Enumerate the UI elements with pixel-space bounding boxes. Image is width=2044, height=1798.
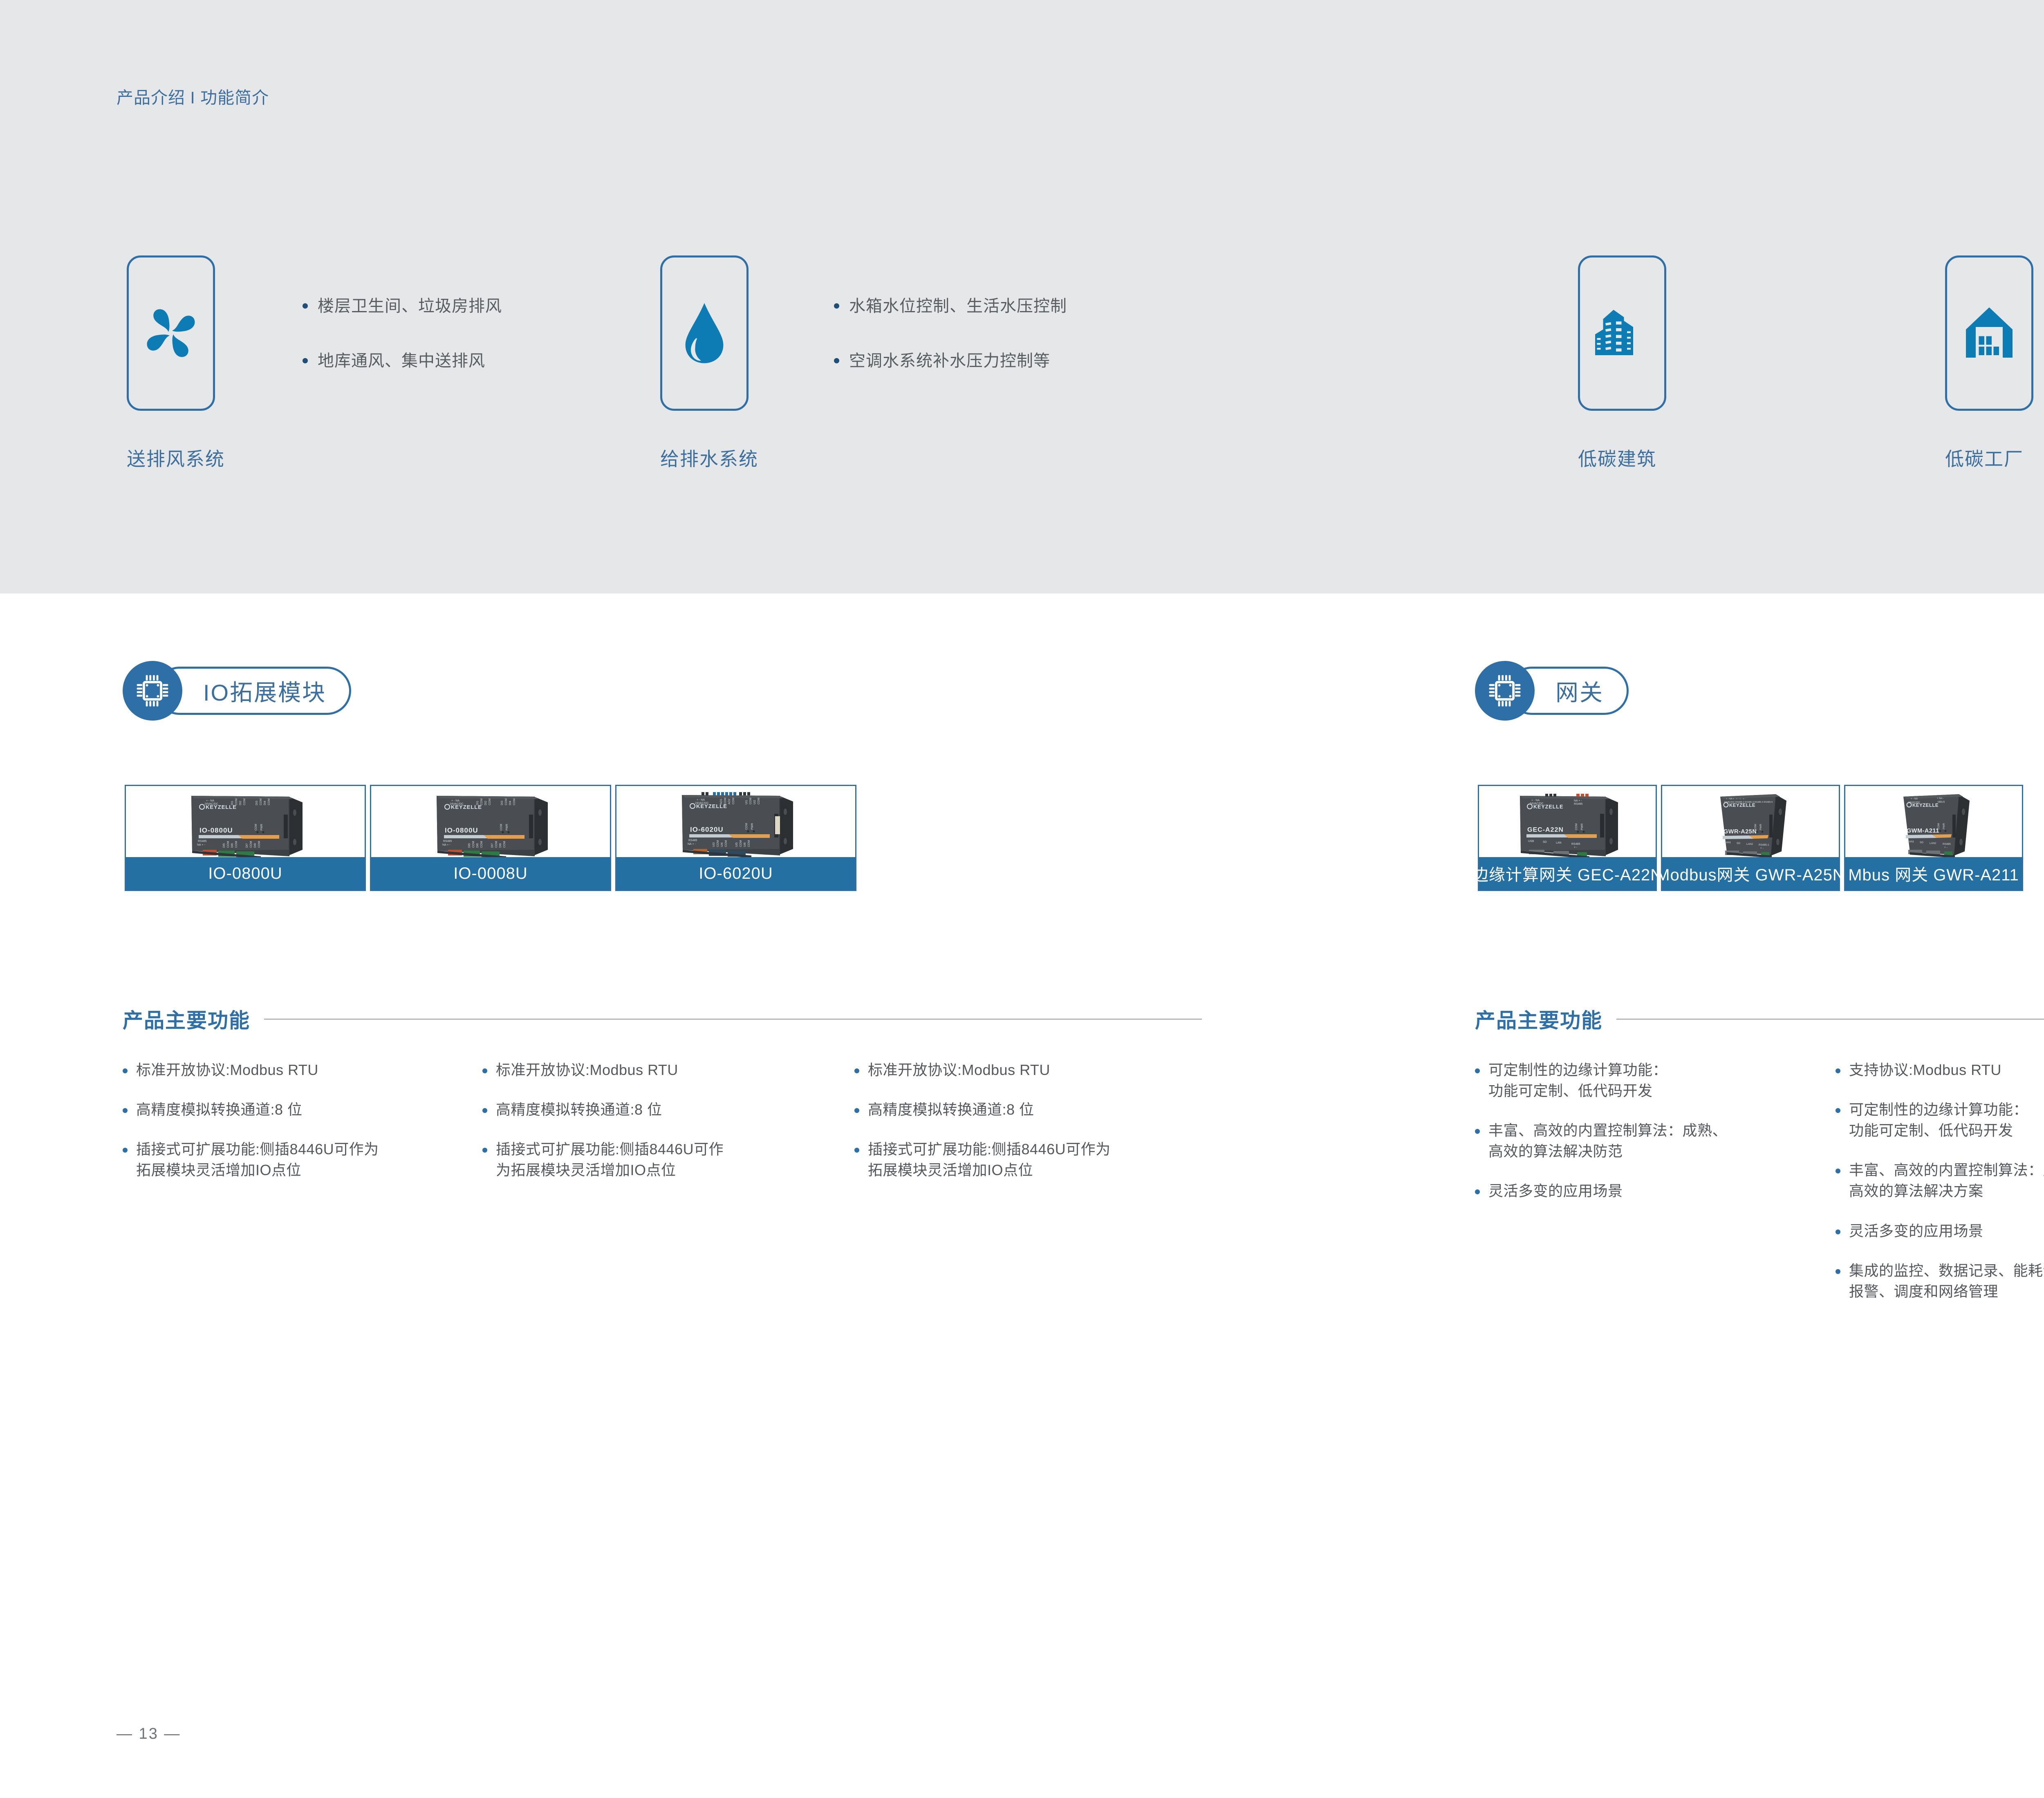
svg-text:RS485: RS485 xyxy=(1571,843,1580,846)
feature-line: 可定制性的边缘计算功能： xyxy=(1849,1101,2028,1118)
svg-text:COM: COM xyxy=(724,798,727,805)
svg-text:COM: COM xyxy=(258,841,261,848)
svg-text:GEC-A22N: GEC-A22N xyxy=(1527,826,1564,833)
feature-item: 集成的监控、数据记录、能耗计量、 报警、调度和网络管理 xyxy=(1836,1260,2044,1302)
feature-item: 插接式可扩展功能:侧插8446U可作 为拓展模块灵活增加IO点位 xyxy=(482,1139,830,1180)
svg-text:DI8: DI8 xyxy=(254,843,257,848)
svg-text:COM: COM xyxy=(717,840,719,847)
bullet-dot xyxy=(854,1148,859,1153)
office-buildings-icon-frame xyxy=(1578,255,1666,411)
feature-item: 高精度模拟转换通道:8 位 xyxy=(123,1099,470,1120)
feature-text: 灵活多变的应用场景 xyxy=(1849,1220,1983,1241)
bullet-dot xyxy=(1836,1269,1840,1274)
bullet-dot xyxy=(482,1148,487,1153)
svg-text:+ -: + - xyxy=(1574,846,1578,849)
application-card-water: 给排水系统 xyxy=(660,255,758,471)
svg-text:DI1: DI1 xyxy=(231,801,234,805)
product-card[interactable]: KEYZELLE GEC-A22N COM PWR + - NA 24VAC/D… xyxy=(1478,785,1657,891)
feature-text: 可定制性的边缘计算功能： 功能可定制、低代码开发 xyxy=(1849,1099,2028,1141)
svg-text:PWR: PWR xyxy=(1581,824,1584,830)
feature-item: 标准开放协议:Modbus RTU xyxy=(482,1059,830,1080)
bullet-text: 空调水系统补水压力控制等 xyxy=(849,347,1050,371)
svg-text:COM: COM xyxy=(489,799,491,806)
svg-text:DI3: DI3 xyxy=(501,801,504,805)
feature-item: 插接式可扩展功能:侧插8446U可作为 拓展模块灵活增加IO点位 xyxy=(123,1139,470,1180)
svg-text:COM: COM xyxy=(500,824,503,831)
feature-line: 插接式可扩展功能:侧插8446U可作 xyxy=(496,1141,724,1158)
svg-text:NA + -: NA + - xyxy=(688,843,696,846)
bullet-item: 地库通风、集中送排风 xyxy=(303,347,502,371)
svg-text:+ - NA: + - NA xyxy=(1531,799,1540,802)
feature-line: 丰富、高效的内置控制算法：成熟、 xyxy=(1849,1162,2044,1178)
feature-text: 标准开放协议:Modbus RTU xyxy=(868,1059,1050,1080)
feature-item: 丰富、高效的内置控制算法：成熟、 高效的算法解决防范 xyxy=(1475,1120,1777,1162)
feature-line: 为拓展模块灵活增加IO点位 xyxy=(496,1160,724,1180)
application-bullets-ventilation: 楼层卫生间、垃圾房排风 地库通风、集中送排风 xyxy=(303,293,502,402)
feature-line: 支持协议:Modbus RTU xyxy=(1849,1061,2001,1078)
svg-text:SD: SD xyxy=(1920,841,1923,844)
svg-text:COM: COM xyxy=(725,840,728,847)
svg-text:+ - NA: + - NA xyxy=(206,799,214,802)
svg-text:24VAC/DC: 24VAC/DC xyxy=(204,803,218,806)
svg-text:+ - NA: + - NA xyxy=(451,799,459,802)
product-image: KEYZELLE IO-0800U COM PWR + - NA 24VAC/D… xyxy=(371,786,610,857)
svg-text:+ - NA + - + - + - + -: + - NA + - + - + - + - xyxy=(1726,798,1746,800)
svg-text:DI2: DI2 xyxy=(239,801,242,805)
feature-text: 插接式可扩展功能:侧插8446U可作为 拓展模块灵活增加IO点位 xyxy=(868,1139,1111,1180)
svg-text:NA + -: NA + - xyxy=(197,844,205,846)
office-buildings-icon xyxy=(1591,302,1653,364)
product-caption: 边缘计算网关 GEC-A22N xyxy=(1479,857,1656,890)
feature-item: 标准开放协议:Modbus RTU xyxy=(854,1059,1202,1080)
svg-text:COM: COM xyxy=(255,824,258,831)
svg-text:DI3: DI3 xyxy=(255,801,258,805)
application-label: 给排水系统 xyxy=(660,444,758,471)
application-card-ventilation: 送排风系统 xyxy=(127,255,225,471)
section-header-io: IO拓展模块 xyxy=(123,661,351,721)
features-title: 产品主要功能 xyxy=(123,1004,250,1034)
bullet-dot xyxy=(482,1108,487,1113)
feature-line: 拓展模块灵活增加IO点位 xyxy=(868,1160,1111,1180)
factory-icon-frame xyxy=(1945,255,2033,411)
feature-item: 标准开放协议:Modbus RTU xyxy=(123,1059,470,1080)
section-title-pill-io: IO拓展模块 xyxy=(155,667,351,715)
bullet-dot xyxy=(1836,1169,1840,1173)
device-photo-io-6020u: KEYZELLE IO-6020U COM PWR + - NA 24VAC/D… xyxy=(616,786,855,857)
product-card[interactable]: KEYZELLE GWR-A25N COM PWR + - NA + - + -… xyxy=(1661,785,1840,891)
svg-text:24VAC/DC: 24VAC/DC xyxy=(695,802,709,805)
svg-text:GWM-A211: GWM-A211 xyxy=(1907,828,1939,834)
feature-text: 集成的监控、数据记录、能耗计量、 报警、调度和网络管理 xyxy=(1849,1260,2044,1302)
application-card-low-carbon-building: 低碳建筑 xyxy=(1578,255,1666,471)
svg-text:COM: COM xyxy=(480,841,483,848)
application-label: 送排风系统 xyxy=(127,444,225,471)
product-image: KEYZELLE GWR-A25N COM PWR + - NA + - + -… xyxy=(1662,786,1839,857)
feature-line: 标准开放协议:Modbus RTU xyxy=(136,1061,318,1078)
feature-text: 插接式可扩展功能:侧插8446U可作为 拓展模块灵活增加IO点位 xyxy=(136,1139,379,1180)
svg-text:COM: COM xyxy=(268,799,271,806)
feature-text: 插接式可扩展功能:侧插8446U可作 为拓展模块灵活增加IO点位 xyxy=(496,1139,724,1180)
bullet-dot xyxy=(1475,1129,1480,1134)
svg-text:DI6: DI6 xyxy=(476,843,479,848)
device-photo-io-0800u: KEYZELLE IO-0800U COM PWR + - NA 24 xyxy=(126,786,365,857)
water-drop-icon xyxy=(677,300,731,366)
svg-text:COM: COM xyxy=(745,823,748,830)
features-title: 产品主要功能 xyxy=(1475,1004,1602,1034)
bullet-text: 地库通风、集中送排风 xyxy=(318,347,485,371)
feature-item: 可定制性的边缘计算功能： 功能可定制、低代码开发 xyxy=(1836,1099,2044,1141)
feature-line: 高效的算法解决方案 xyxy=(1849,1180,2044,1201)
bullet-text: 水箱水位控制、生活水压控制 xyxy=(849,293,1067,316)
svg-text:DI6: DI6 xyxy=(231,843,234,848)
svg-text:AO2: AO2 xyxy=(728,799,731,804)
svg-text:COM: COM xyxy=(758,798,760,805)
page-number-left: — 13 — xyxy=(117,1725,181,1743)
section-title: 网关 xyxy=(1555,674,1604,708)
feature-text: 高精度模拟转换通道:8 位 xyxy=(496,1099,662,1120)
svg-text:RS485: RS485 xyxy=(1943,843,1951,846)
svg-text:COM: COM xyxy=(495,841,498,848)
svg-text:NA + -: NA + - xyxy=(442,844,450,846)
feature-line: 高效的算法解决防范 xyxy=(1488,1141,1727,1162)
svg-text:RS485: RS485 xyxy=(198,840,207,843)
feature-line: 报警、调度和网络管理 xyxy=(1849,1281,2044,1302)
section-title: IO拓展模块 xyxy=(203,674,326,708)
bullet-dot xyxy=(482,1068,487,1073)
feature-item: 支持协议:Modbus RTU xyxy=(1836,1059,2044,1080)
svg-text:LAN2: LAN2 xyxy=(1746,843,1753,846)
product-card[interactable]: KEYZELLE IO-0800U COM PWR + - NA 24 xyxy=(125,785,366,891)
svg-text:PWR: PWR xyxy=(751,823,754,830)
fan-icon-frame xyxy=(127,255,215,411)
feature-text: 标准开放协议:Modbus RTU xyxy=(136,1059,318,1080)
bullet-dot xyxy=(123,1068,128,1073)
device-photo-gwm-a211: KEYZELLE GWM-A211 COM PWR + - NA 24VAC/D… xyxy=(1845,786,2022,857)
svg-text:COM: COM xyxy=(503,841,506,848)
chip-icon-badge xyxy=(123,661,182,721)
svg-text:COM: COM xyxy=(732,798,735,805)
features-rule xyxy=(1616,1019,2044,1020)
svg-text:KEYZELLE: KEYZELLE xyxy=(1729,803,1755,808)
product-image: KEYZELLE GEC-A22N COM PWR + - NA 24VAC/D… xyxy=(1479,786,1656,857)
features-column-io-3: 标准开放协议:Modbus RTU 高精度模拟转换通道:8 位 插接式可扩展功能… xyxy=(854,1059,1202,1199)
feature-line: 灵活多变的应用场景 xyxy=(1488,1182,1623,1199)
chip-icon xyxy=(133,671,172,710)
product-card[interactable]: KEYZELLE IO-6020U COM PWR + - NA 24VAC/D… xyxy=(615,785,856,891)
feature-text: 丰富、高效的内置控制算法：成熟、 高效的算法解决方案 xyxy=(1849,1160,2044,1201)
svg-text:COM: COM xyxy=(748,840,751,847)
feature-line: 插接式可扩展功能:侧插8446U可作为 xyxy=(136,1141,379,1158)
svg-text:COM: COM xyxy=(227,841,230,848)
svg-text:PWR: PWR xyxy=(1759,824,1762,830)
feature-item: 可定制性的边缘计算功能： 功能可定制、低代码开发 xyxy=(1475,1059,1777,1101)
device-photo-gwr-a25n: KEYZELLE GWR-A25N COM PWR + - NA + - + -… xyxy=(1662,786,1839,857)
feature-text: 支持协议:Modbus RTU xyxy=(1849,1059,2001,1080)
feature-line: 高精度模拟转换通道:8 位 xyxy=(496,1101,662,1118)
svg-text:+ -: + - xyxy=(1760,847,1764,850)
feature-item: 灵活多变的应用场景 xyxy=(1836,1220,2044,1241)
svg-text:DI7: DI7 xyxy=(246,843,249,848)
product-caption: Modbus网关 GWR-A25N xyxy=(1662,857,1839,890)
feature-text: 高精度模拟转换通道:8 位 xyxy=(136,1099,303,1120)
svg-text:COM: COM xyxy=(250,841,253,848)
svg-text:DI2: DI2 xyxy=(484,801,487,805)
svg-text:RS485: RS485 xyxy=(443,840,452,843)
features-header-gateway: 产品主要功能 xyxy=(1475,1004,2044,1034)
svg-text:UI1: UI1 xyxy=(745,800,748,804)
svg-text:LAN2: LAN2 xyxy=(1930,842,1936,845)
bullet-item: 楼层卫生间、垃圾房排风 xyxy=(303,293,502,316)
feature-line: 功能可定制、低代码开发 xyxy=(1488,1080,1667,1101)
bullet-dot xyxy=(1836,1229,1840,1234)
bullet-dot xyxy=(1475,1189,1480,1194)
features-column-gateway-2: 支持协议:Modbus RTU 可定制性的边缘计算功能： 功能可定制、低代码开发… xyxy=(1836,1059,2044,1321)
svg-text:COM: COM xyxy=(235,799,238,806)
product-caption: IO-6020U xyxy=(616,857,855,890)
device-photo-io-0008u: KEYZELLE IO-0800U COM PWR + - NA 24VAC/D… xyxy=(371,786,610,857)
svg-text:RS485: RS485 xyxy=(1574,803,1583,806)
svg-text:LAN: LAN xyxy=(1556,842,1562,844)
bullet-dot xyxy=(854,1068,859,1073)
svg-text:COM: COM xyxy=(243,799,246,806)
svg-text:IO-6020U: IO-6020U xyxy=(690,826,724,833)
svg-text:UI5: UI5 xyxy=(735,842,738,847)
feature-item: 插接式可扩展功能:侧插8446U可作为 拓展模块灵活增加IO点位 xyxy=(854,1139,1202,1180)
svg-text:DI1: DI1 xyxy=(476,801,479,805)
svg-text:+ - NA: + - NA xyxy=(1911,798,1918,800)
feature-line: 标准开放协议:Modbus RTU xyxy=(868,1061,1050,1078)
svg-text:DI4: DI4 xyxy=(509,801,512,805)
bullet-dot xyxy=(854,1108,859,1113)
svg-text:+ NA -: + NA - xyxy=(1937,797,1944,800)
bullet-item: 空调水系统补水压力控制等 xyxy=(834,347,1067,371)
svg-text:UI6: UI6 xyxy=(744,842,746,847)
svg-text:COM: COM xyxy=(472,841,475,848)
feature-item: 丰富、高效的内置控制算法：成熟、 高效的算法解决方案 xyxy=(1836,1160,2044,1201)
features-rule xyxy=(264,1019,1202,1020)
svg-text:COM: COM xyxy=(1575,824,1578,831)
features-column-io-1: 标准开放协议:Modbus RTU 高精度模拟转换通道:8 位 插接式可扩展功能… xyxy=(123,1059,470,1199)
feature-line: 高精度模拟转换通道:8 位 xyxy=(136,1101,303,1118)
svg-text:SD: SD xyxy=(1737,842,1740,845)
bullet-text: 楼层卫生间、垃圾房排风 xyxy=(318,293,502,316)
feature-text: 灵活多变的应用场景 xyxy=(1488,1180,1623,1201)
features-column-io-2: 标准开放协议:Modbus RTU 高精度模拟转换通道:8 位 插接式可扩展功能… xyxy=(482,1059,830,1199)
feature-text: 高精度模拟转换通道:8 位 xyxy=(868,1099,1034,1120)
product-caption: IO-0800U xyxy=(126,857,365,890)
bullet-dot xyxy=(303,358,308,363)
svg-text:PWR: PWR xyxy=(506,824,509,831)
bullet-dot xyxy=(1836,1068,1840,1073)
svg-text:COM: COM xyxy=(1754,824,1757,830)
feature-line: 集成的监控、数据记录、能耗计量、 xyxy=(1849,1262,2044,1279)
chip-icon xyxy=(1485,671,1524,710)
bullet-item: 水箱水位控制、生活水压控制 xyxy=(834,293,1067,316)
svg-text:COM: COM xyxy=(480,799,483,806)
feature-text: 可定制性的边缘计算功能： 功能可定制、低代码开发 xyxy=(1488,1059,1667,1101)
fan-icon xyxy=(140,302,202,364)
svg-text:LAN1: LAN1 xyxy=(1907,840,1914,843)
feature-line: 拓展模块灵活增加IO点位 xyxy=(136,1160,379,1180)
features-column-gateway-1: 可定制性的边缘计算功能： 功能可定制、低代码开发 丰富、高效的内置控制算法：成熟… xyxy=(1475,1059,1777,1220)
bullet-dot xyxy=(123,1108,128,1113)
feature-item: 灵活多变的应用场景 xyxy=(1475,1180,1777,1201)
svg-text:GWR-A25N: GWR-A25N xyxy=(1724,828,1757,835)
svg-text:DI5: DI5 xyxy=(468,843,471,848)
feature-line: 灵活多变的应用场景 xyxy=(1849,1223,1983,1239)
product-card[interactable]: KEYZELLE IO-0800U COM PWR + - NA 24VAC/D… xyxy=(370,785,611,891)
svg-text:24VAC/DC: 24VAC/DC xyxy=(1530,802,1544,805)
svg-text:PWR: PWR xyxy=(1943,823,1945,829)
feature-line: 功能可定制、低代码开发 xyxy=(1849,1120,2028,1141)
svg-text:USB: USB xyxy=(1528,840,1534,843)
svg-text:COM: COM xyxy=(1937,823,1940,829)
svg-text:COM: COM xyxy=(513,799,516,806)
svg-text:IO-0800U: IO-0800U xyxy=(199,826,233,834)
product-image: KEYZELLE IO-6020U COM PWR + - NA 24VAC/D… xyxy=(616,786,855,857)
svg-text:RS485-1: RS485-1 xyxy=(1759,844,1769,846)
svg-text:COM: COM xyxy=(505,799,508,806)
bullet-dot xyxy=(1475,1068,1480,1073)
svg-text:+ -: + - xyxy=(1944,846,1948,849)
svg-text:SD: SD xyxy=(1543,841,1547,844)
application-card-low-carbon-factory: 低碳工厂 xyxy=(1945,255,2033,471)
svg-text:MBUS: MBUS xyxy=(1938,801,1945,804)
bullet-dot xyxy=(834,303,839,309)
feature-line: 高精度模拟转换通道:8 位 xyxy=(868,1101,1034,1118)
svg-text:LAN1: LAN1 xyxy=(1724,841,1731,844)
feature-item: 高精度模拟转换通道:8 位 xyxy=(482,1099,830,1120)
svg-text:UI4: UI4 xyxy=(721,842,724,847)
device-photo-gec-a22n: KEYZELLE GEC-A22N COM PWR + - NA 24VAC/D… xyxy=(1479,786,1656,857)
product-image: KEYZELLE IO-0800U COM PWR + - NA 24 xyxy=(126,786,365,857)
bullet-dot xyxy=(123,1148,128,1153)
svg-text:DI7: DI7 xyxy=(491,843,494,848)
svg-text:DI8: DI8 xyxy=(499,843,502,848)
chip-icon-badge xyxy=(1475,661,1535,721)
feature-line: 可定制性的边缘计算功能： xyxy=(1488,1061,1667,1078)
svg-text:PWR: PWR xyxy=(260,824,263,831)
svg-text:COM: COM xyxy=(235,841,238,848)
application-row: 送排风系统 楼层卫生间、垃圾房排风 地库通风、集中送排风 给排水系统 xyxy=(0,0,2044,593)
svg-text:NA + -: NA + - xyxy=(1574,799,1582,802)
bullet-dot xyxy=(1836,1108,1840,1113)
section-header-gateway: 网关 xyxy=(1475,661,1629,721)
feature-line: 标准开放协议:Modbus RTU xyxy=(496,1061,678,1078)
product-caption: Mbus 网关 GWR-A211 xyxy=(1845,857,2022,890)
application-label: 低碳工厂 xyxy=(1945,444,2033,471)
svg-text:DI4: DI4 xyxy=(264,801,267,805)
svg-text:AO1: AO1 xyxy=(720,799,723,804)
svg-text:IO-0800U: IO-0800U xyxy=(445,826,478,834)
factory-icon xyxy=(1959,302,2020,364)
product-image: KEYZELLE GWM-A211 COM PWR + - NA 24VAC/D… xyxy=(1845,786,2022,857)
feature-text: 丰富、高效的内置控制算法：成熟、 高效的算法解决防范 xyxy=(1488,1120,1727,1162)
water-drop-icon-frame xyxy=(660,255,749,411)
application-label: 低碳建筑 xyxy=(1578,444,1666,471)
application-bullets-water: 水箱水位控制、生活水压控制 空调水系统补水压力控制等 xyxy=(834,293,1067,402)
feature-text: 标准开放协议:Modbus RTU xyxy=(496,1059,678,1080)
feature-line: 丰富、高效的内置控制算法：成熟、 xyxy=(1488,1122,1727,1139)
bullet-dot xyxy=(834,358,839,363)
svg-text:DI5: DI5 xyxy=(223,843,226,848)
svg-text:COM: COM xyxy=(260,799,262,806)
svg-text:+ - NA: + - NA xyxy=(697,799,705,802)
svg-text:UI2: UI2 xyxy=(753,800,756,804)
brochure-page: 产品介绍 I 功能简介 产品介绍 I 功能简介 送排风系统 xyxy=(0,0,2044,1798)
feature-item: 高精度模拟转换通道:8 位 xyxy=(854,1099,1202,1120)
svg-text:RS485: RS485 xyxy=(688,839,697,842)
product-card[interactable]: KEYZELLE GWM-A211 COM PWR + - NA 24VAC/D… xyxy=(1844,785,2023,891)
svg-text:UI3: UI3 xyxy=(713,842,715,847)
svg-text:24VAC/DC RS485-2 RS485-3 RS485: 24VAC/DC RS485-2 RS485-3 RS485-4 RS485-5 xyxy=(1724,801,1773,804)
bullet-dot xyxy=(303,303,308,309)
feature-line: 插接式可扩展功能:侧插8446U可作为 xyxy=(868,1141,1111,1158)
features-header-io: 产品主要功能 xyxy=(123,1004,1202,1034)
svg-text:24VAC/DC: 24VAC/DC xyxy=(450,803,464,806)
product-caption: IO-0008U xyxy=(371,857,610,890)
svg-text:COM: COM xyxy=(740,840,742,847)
svg-text:COM: COM xyxy=(749,798,752,805)
svg-text:24VAC/DC: 24VAC/DC xyxy=(1908,802,1921,804)
